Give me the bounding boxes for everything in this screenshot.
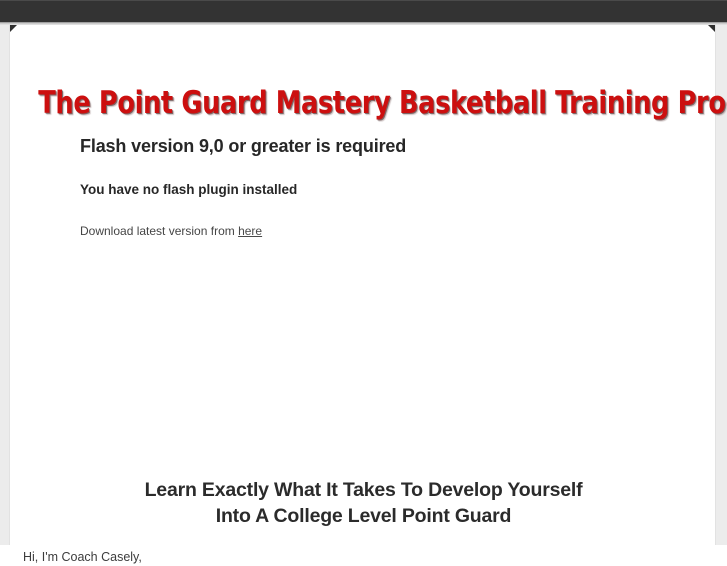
- sheet-corner-nib-right: [708, 25, 715, 32]
- sales-subheadline: Learn Exactly What It Takes To Develop Y…: [10, 477, 717, 529]
- content-sheet: The Point Guard Mastery Basketball Train…: [9, 25, 716, 545]
- browser-chrome-highlight: [0, 0, 727, 1]
- flash-embed-placeholder[interactable]: [20, 253, 706, 463]
- flash-download-prefix: Download latest version from: [80, 224, 238, 238]
- sales-subheadline-line-2: Into A College Level Point Guard: [10, 503, 717, 529]
- flash-required-heading: Flash version 9,0 or greater is required: [80, 135, 640, 157]
- greeting-text: Hi, I'm Coach Casely,: [23, 549, 683, 566]
- sales-subheadline-line-1: Learn Exactly What It Takes To Develop Y…: [10, 477, 717, 503]
- flash-download-link[interactable]: here: [238, 224, 262, 238]
- flash-notice-block: Flash version 9,0 or greater is required…: [80, 135, 640, 239]
- browser-chrome-bar: [0, 0, 727, 22]
- flash-download-line: Download latest version from here: [80, 223, 640, 239]
- page-title: The Point Guard Mastery Basketball Train…: [38, 86, 688, 120]
- sheet-corner-nib-left: [10, 25, 17, 32]
- flash-missing-message: You have no flash plugin installed: [80, 181, 640, 198]
